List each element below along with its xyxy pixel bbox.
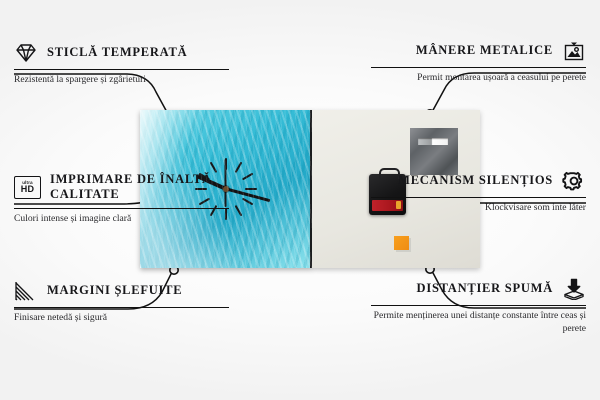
feature-divider — [14, 307, 229, 308]
feature-subtitle: Permit montarea ușoară a ceasului pe per… — [371, 72, 586, 85]
feature-subtitle: Permite menținerea unei distanțe constan… — [371, 310, 586, 336]
feature-metal-hangers: MÂNERE METALICE Permit montarea ușoară a… — [371, 40, 586, 85]
feature-divider — [14, 69, 229, 70]
gear-icon — [562, 170, 586, 192]
ultra-hd-badge-main-label: HD — [21, 185, 35, 194]
infographic-canvas: STICLĂ TEMPERATĂ Rezistentă la spargere … — [0, 0, 600, 400]
beveled-edge-icon — [14, 280, 38, 302]
feature-header: STICLĂ TEMPERATĂ — [14, 42, 229, 64]
feature-header: DISTANȚIER SPUMĂ — [371, 278, 586, 300]
feature-title: STICLĂ TEMPERATĂ — [47, 45, 187, 60]
feature-print-quality: ultra HD IMPRIMARE DE ÎNALTĂ CALITATE Cu… — [14, 172, 229, 225]
feature-subtitle: Klockvisare som inte låter — [371, 202, 586, 215]
feature-subtitle: Culori intense și imagine clară — [14, 213, 229, 226]
feature-header: MÂNERE METALICE — [371, 40, 586, 62]
feature-title: DISTANȚIER SPUMĂ — [417, 281, 553, 296]
feature-subtitle: Finisare netedă și sigură — [14, 312, 229, 325]
feature-subtitle: Rezistentă la spargere și zgârieturi — [14, 74, 229, 87]
feature-foam-spacer: DISTANȚIER SPUMĂ Permite menținerea unei… — [371, 278, 586, 336]
hanger-slot — [418, 138, 448, 145]
metal-hanger-plate — [410, 128, 458, 175]
feature-title: MECANISM SILENȚIOS — [398, 173, 553, 188]
feature-divider — [371, 305, 586, 306]
feature-divider — [371, 197, 586, 198]
feature-header: ultra HD IMPRIMARE DE ÎNALTĂ CALITATE — [14, 172, 229, 203]
picture-hanger-icon — [562, 40, 586, 62]
feature-silent-mechanism: MECANISM SILENȚIOS Klockvisare som inte … — [371, 170, 586, 215]
clock-hand-minute — [226, 188, 270, 203]
feature-title: MÂNERE METALICE — [416, 43, 553, 58]
diamond-icon — [14, 42, 38, 64]
feature-divider — [371, 67, 586, 68]
feature-title: MARGINI ȘLEFUITE — [47, 283, 182, 298]
feature-divider — [14, 208, 229, 209]
feature-header: MECANISM SILENȚIOS — [371, 170, 586, 192]
feature-title: IMPRIMARE DE ÎNALTĂ CALITATE — [50, 172, 229, 203]
foam-spacer — [394, 236, 409, 250]
feature-polished-edges: MARGINI ȘLEFUITE Finisare netedă și sigu… — [14, 280, 229, 325]
ultra-hd-badge-icon: ultra HD — [14, 176, 41, 199]
feature-header: MARGINI ȘLEFUITE — [14, 280, 229, 302]
feature-tempered-glass: STICLĂ TEMPERATĂ Rezistentă la spargere … — [14, 42, 229, 87]
foam-spacer-icon — [562, 278, 586, 300]
